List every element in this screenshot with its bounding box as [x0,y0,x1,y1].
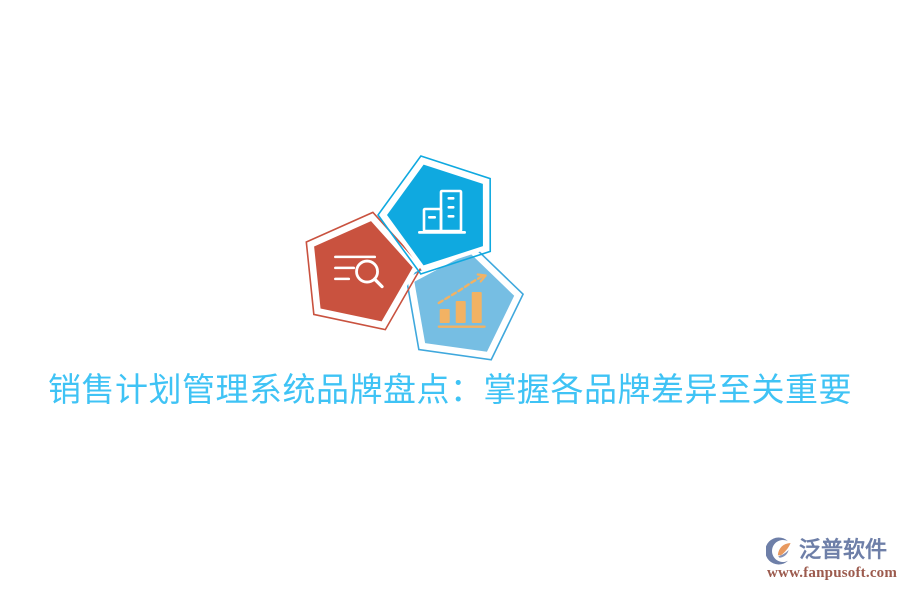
watermark-logo: 泛普软件 www.fanpusoft.com [766,536,894,586]
watermark-brand-name: 泛普软件 [799,537,887,565]
fanpu-logo-icon [766,537,796,565]
watermark-top-row: 泛普软件 [766,536,887,566]
poster-canvas: 销售计划管理系统品牌盘点：掌握各品牌差异至关重要 泛普软件 www.fanpus… [0,0,900,600]
page-title: 销售计划管理系统品牌盘点：掌握各品牌差异至关重要 [0,368,900,412]
pentagon-cluster-graphic [290,140,535,365]
watermark-url: www.fanpusoft.com [767,564,897,582]
